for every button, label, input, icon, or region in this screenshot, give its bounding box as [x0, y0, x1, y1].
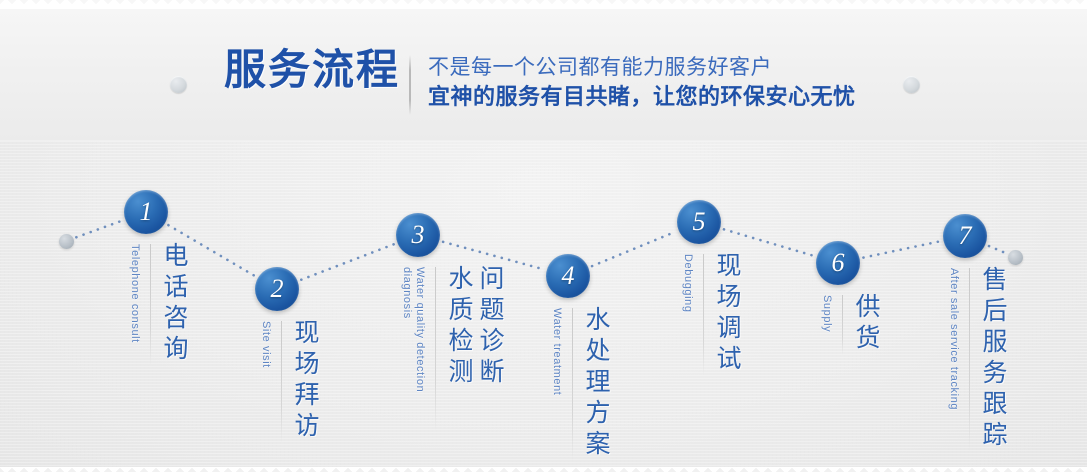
label-divider — [703, 254, 704, 376]
step-label-group-2: 现场拜访Site visit — [259, 319, 318, 443]
label-divider — [572, 308, 573, 461]
page-title: 服务流程 — [224, 47, 400, 93]
rivet-icon-right — [903, 76, 920, 93]
step-label-cn-6: 供货 — [852, 293, 879, 355]
rivet-icon-left — [170, 76, 187, 93]
step-label-cn-column: 问题诊断 — [476, 265, 503, 389]
step-label-cn-column: 水处理方案 — [582, 306, 609, 461]
subtitle-line-1: 不是每一个公司都有能力服务好客户 — [428, 54, 856, 82]
step-node-2[interactable]: 2 — [255, 267, 299, 311]
top-zigzag-pattern — [0, 0, 1087, 5]
step-label-en-5: Debugging — [681, 252, 694, 313]
bottom-zigzag-pattern — [0, 467, 1087, 472]
step-label-en-4: Water treatment — [550, 306, 563, 395]
step-label-group-4: 水处理方案Water treatment — [550, 306, 609, 461]
step-label-group-7: 售后服务跟踪After sale service tracking — [947, 266, 1006, 452]
step-label-cn-column: 现场调试 — [713, 252, 740, 376]
step-label-cn-7: 售后服务跟踪 — [979, 266, 1006, 452]
service-process-banner: 服务流程 不是每一个公司都有能力服务好客户 宜神的服务有目共睹，让您的环保安心无… — [0, 0, 1087, 475]
step-label-en-6: Supply — [820, 293, 833, 332]
path-endpoint-end — [1008, 250, 1023, 265]
label-divider — [281, 321, 282, 443]
label-divider — [842, 295, 843, 355]
title-divider — [409, 55, 411, 115]
step-label-group-3: 问题诊断水质检测Water quality detection diagnosi… — [400, 265, 503, 432]
step-label-group-5: 现场调试Debugging — [681, 252, 740, 376]
label-divider — [969, 268, 970, 452]
path-endpoint-start — [59, 234, 74, 249]
step-label-en-1: Telephone consult — [128, 242, 141, 343]
step-node-7[interactable]: 7 — [943, 214, 987, 258]
step-label-cn-column: 水质检测 — [445, 265, 472, 389]
step-label-cn-4: 水处理方案 — [582, 306, 609, 461]
step-label-group-6: 供货Supply — [820, 293, 879, 355]
step-node-6[interactable]: 6 — [816, 241, 860, 285]
step-label-cn-2: 现场拜访 — [291, 319, 318, 443]
step-label-cn-1: 电话咨询 — [160, 242, 187, 366]
step-label-cn-5: 现场调试 — [713, 252, 740, 376]
top-edge-strip — [0, 0, 1087, 9]
step-node-4[interactable]: 4 — [546, 254, 590, 298]
step-label-cn-column: 电话咨询 — [160, 242, 187, 366]
step-label-cn-column: 供货 — [852, 293, 879, 355]
step-label-en-2: Site visit — [259, 319, 272, 368]
subtitle-line-2: 宜神的服务有目共睹，让您的环保安心无忧 — [428, 82, 856, 112]
step-label-en-3: Water quality detection diagnosis — [400, 265, 426, 432]
step-label-cn-column: 售后服务跟踪 — [979, 266, 1006, 452]
step-node-3[interactable]: 3 — [396, 213, 440, 257]
label-divider — [150, 244, 151, 366]
step-label-en-7: After sale service tracking — [947, 266, 960, 410]
step-node-1[interactable]: 1 — [124, 190, 168, 234]
step-label-cn-3: 问题诊断水质检测 — [445, 265, 503, 389]
step-label-cn-column: 现场拜访 — [291, 319, 318, 443]
step-node-5[interactable]: 5 — [677, 200, 721, 244]
step-label-group-1: 电话咨询Telephone consult — [128, 242, 187, 366]
subtitle-group: 不是每一个公司都有能力服务好客户 宜神的服务有目共睹，让您的环保安心无忧 — [428, 54, 856, 112]
label-divider — [435, 267, 436, 432]
